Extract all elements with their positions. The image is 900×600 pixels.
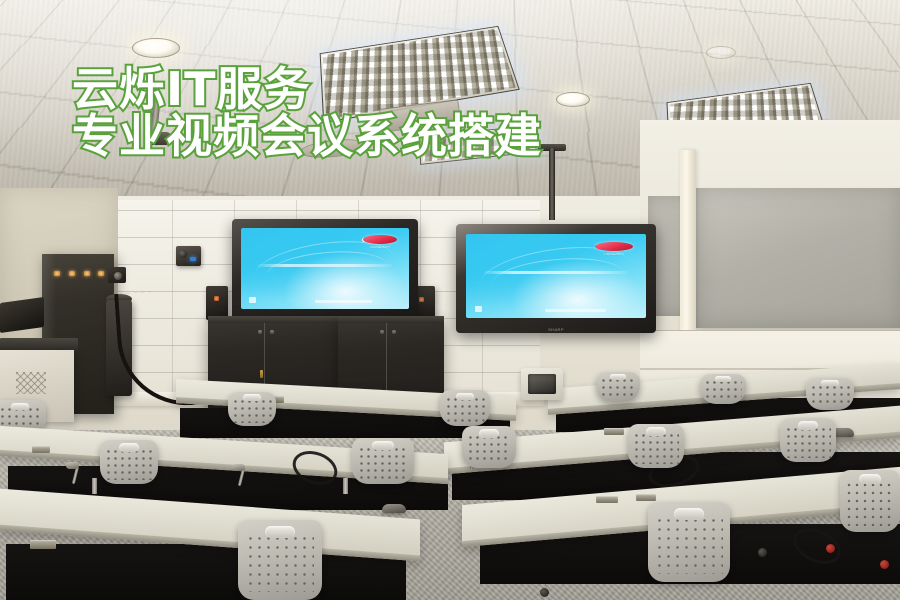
screen-corner-icon <box>475 306 482 312</box>
chair[interactable] <box>596 372 640 402</box>
chair[interactable] <box>700 374 746 404</box>
table-cable-port[interactable] <box>32 446 50 453</box>
chair[interactable] <box>462 426 516 468</box>
chair[interactable] <box>352 438 414 484</box>
cabinet-knob[interactable] <box>270 330 274 334</box>
table-cable-port[interactable] <box>30 540 56 549</box>
screen-logo: UNIVERSITY <box>363 235 397 249</box>
chair[interactable] <box>780 418 836 462</box>
rack-status-led <box>69 271 75 276</box>
chair-caster <box>540 588 549 597</box>
screen-corner-icon <box>249 297 256 303</box>
rack-status-led <box>84 271 90 276</box>
chair[interactable] <box>806 378 854 410</box>
acoustic-panel-right <box>696 188 900 328</box>
cabinet-knob[interactable] <box>258 330 262 334</box>
rack-status-led <box>98 271 104 276</box>
gooseneck-mic-head[interactable] <box>66 462 79 469</box>
recessed-downlight <box>132 38 180 58</box>
gooseneck-mic-head[interactable] <box>232 464 245 471</box>
recessed-downlight <box>556 92 590 107</box>
chair-caster <box>758 548 767 557</box>
ceiling-camera-icon <box>144 132 172 145</box>
display-left[interactable]: UNIVERSITY SHARP <box>232 219 418 323</box>
screen-logo-caption: UNIVERSITY <box>595 253 633 256</box>
speaker-led <box>214 296 219 301</box>
wall-speaker-left <box>206 286 228 320</box>
chair[interactable] <box>100 440 158 484</box>
display-right[interactable]: UNIVERSITY SHARP <box>456 224 656 333</box>
cabinet-top <box>338 316 444 323</box>
display-drop-pole <box>549 148 555 220</box>
chair[interactable] <box>228 392 276 426</box>
table-cable-port[interactable] <box>636 494 656 501</box>
screen-footer-text <box>545 309 606 312</box>
table-cable-port[interactable] <box>604 428 624 435</box>
table-microphone[interactable] <box>382 504 406 513</box>
display-brand-label: SHARP <box>548 327 564 332</box>
display-screen[interactable]: UNIVERSITY <box>241 228 409 309</box>
cabinet-knob[interactable] <box>392 330 396 334</box>
display-screen[interactable]: UNIVERSITY <box>466 234 646 318</box>
conference-room-photo: UNIVERSITY SHARP UNIVERSITY SHARP <box>0 0 900 600</box>
chair[interactable] <box>648 502 730 582</box>
cabinet-top <box>208 316 338 323</box>
screen-logo-mark <box>595 242 633 251</box>
table-cable-port[interactable] <box>596 496 618 503</box>
rack-status-led <box>54 271 60 276</box>
screen-logo: UNIVERSITY <box>595 242 633 256</box>
speaker-led <box>419 297 424 302</box>
screen-footer-text <box>315 300 372 303</box>
chair[interactable] <box>238 520 322 600</box>
lectern-monitor <box>0 297 44 333</box>
lectern-vent-grille <box>16 372 46 394</box>
camera-lens-icon <box>179 250 187 258</box>
cabinet-latch[interactable] <box>260 370 263 378</box>
screen-headline-text <box>484 271 628 274</box>
screen-headline-text <box>258 264 392 267</box>
screen-logo-mark <box>363 235 397 244</box>
recessed-downlight <box>706 46 736 59</box>
screen-logo-caption: UNIVERSITY <box>363 246 397 249</box>
chair[interactable] <box>628 424 684 468</box>
camera-status-led <box>190 257 196 261</box>
chair-caster <box>880 560 889 569</box>
wall-connector-icon <box>114 272 122 280</box>
touch-panel-screen[interactable] <box>528 374 556 394</box>
touch-panel-housing[interactable] <box>521 368 563 400</box>
chair[interactable] <box>840 470 900 532</box>
chair[interactable] <box>440 390 490 426</box>
cabinet-knob[interactable] <box>380 330 384 334</box>
